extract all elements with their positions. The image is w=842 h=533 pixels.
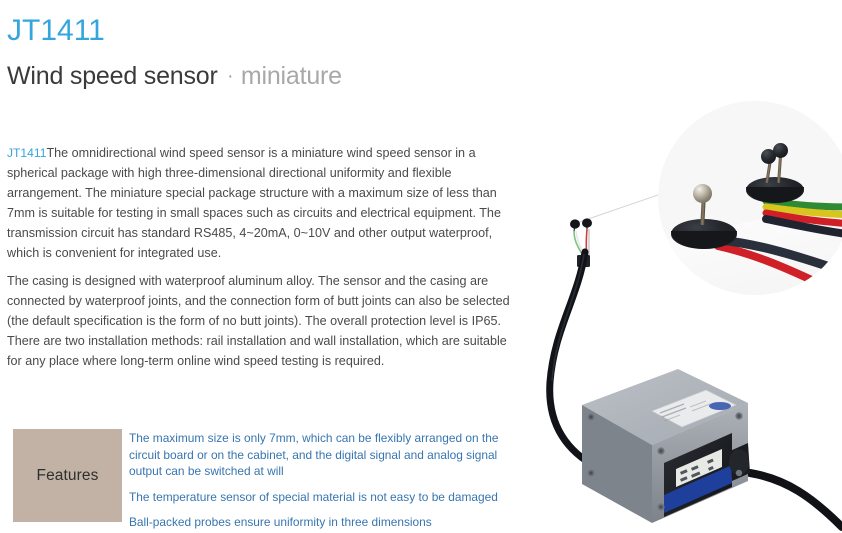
description-paragraph-2: The casing is designed with waterproof a… bbox=[7, 271, 512, 371]
subtitle-product-name: Wind speed sensor bbox=[7, 62, 218, 90]
feature-list-item: The maximum size is only 7mm, which can … bbox=[129, 430, 517, 480]
transmitter-enclosure bbox=[560, 355, 842, 533]
features-list: The maximum size is only 7mm, which can … bbox=[129, 430, 517, 531]
product-datasheet-page: JT1411 Wind speed sensor · miniature JT1… bbox=[0, 0, 842, 533]
page-title-model-code: JT1411 bbox=[7, 14, 105, 48]
page-subtitle: Wind speed sensor · miniature bbox=[7, 60, 342, 96]
brand-logo-mark bbox=[709, 402, 731, 410]
description-paragraph-1: JT1411The omnidirectional wind speed sen… bbox=[7, 143, 512, 264]
description-paragraph-1-text: The omnidirectional wind speed sensor is… bbox=[7, 146, 501, 260]
screw bbox=[736, 470, 742, 476]
output-cable bbox=[750, 473, 842, 527]
subtitle-separator-dot: · bbox=[222, 66, 236, 87]
features-badge: Features bbox=[13, 429, 122, 522]
inline-model-code: JT1411 bbox=[7, 146, 46, 160]
features-section: Features The maximum size is only 7mm, w… bbox=[7, 429, 517, 524]
feature-list-item: Ball-packed probes ensure uniformity in … bbox=[129, 514, 517, 531]
features-badge-label: Features bbox=[37, 467, 99, 485]
product-photo-area bbox=[520, 0, 842, 533]
feature-list-item: The temperature sensor of special materi… bbox=[129, 489, 517, 506]
subtitle-variant-label: miniature bbox=[241, 62, 342, 90]
text-column: JT1411 Wind speed sensor · miniature JT1… bbox=[6, 0, 526, 533]
